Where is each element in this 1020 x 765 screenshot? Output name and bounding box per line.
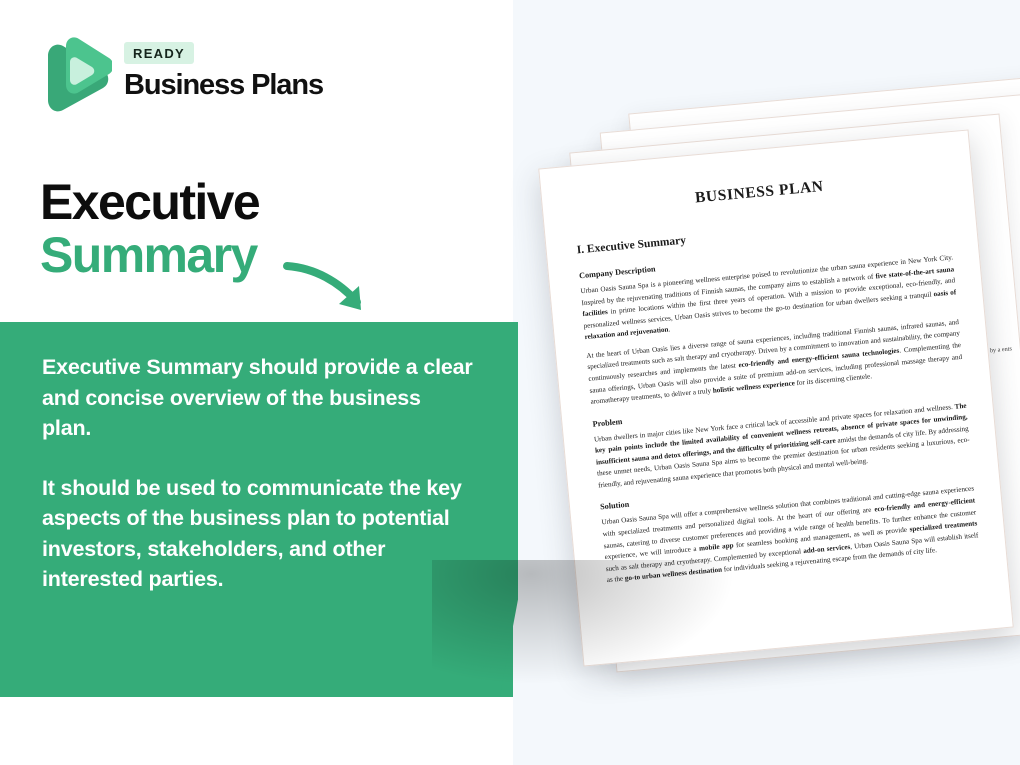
- panel-paragraph-1: Executive Summary should provide a clear…: [42, 352, 474, 444]
- brand-name: Business Plans: [124, 69, 323, 102]
- panel-copy-block: Executive Summary should provide a clear…: [42, 352, 474, 595]
- ready-badge: READY: [124, 42, 194, 64]
- page-title: Executive Summary: [40, 176, 259, 282]
- logo-text-block: READY Business Plans: [124, 42, 323, 102]
- headline-accent-line: Summary: [40, 229, 259, 282]
- document-title: BUSINESS PLAN: [572, 167, 946, 219]
- brand-logo[interactable]: READY Business Plans: [40, 36, 330, 120]
- play-triangle-logo-icon: [40, 36, 112, 112]
- panel-paragraph-2: It should be used to communicate the key…: [42, 473, 474, 595]
- headline-primary-line: Executive: [40, 176, 259, 229]
- business-plan-page[interactable]: BUSINESS PLAN I. Executive Summary Compa…: [538, 129, 1014, 666]
- document-content: BUSINESS PLAN I. Executive Summary Compa…: [572, 167, 980, 594]
- curved-down-right-arrow-icon: [281, 256, 381, 322]
